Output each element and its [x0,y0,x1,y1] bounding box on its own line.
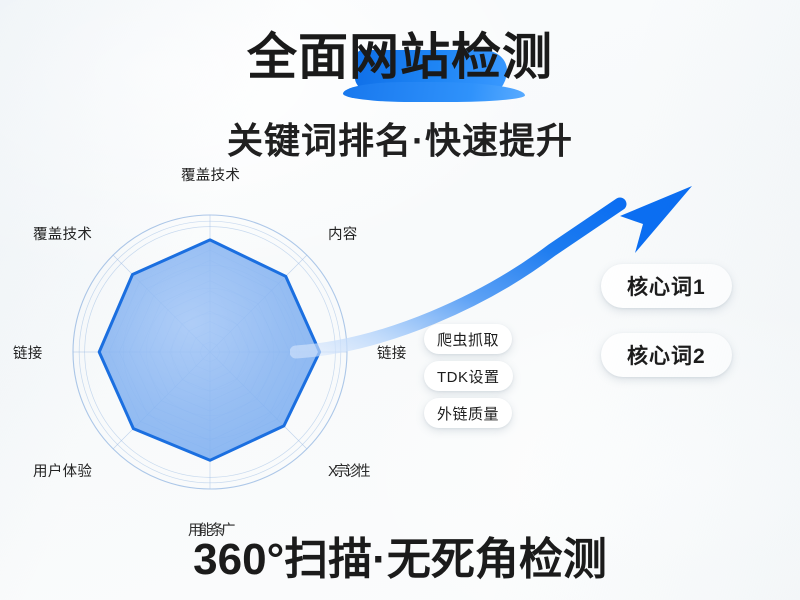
radar-chart: 覆盖技术 内容 链接 X宗诊性 用能条广 用户体验 链接 覆盖技术 [35,195,395,510]
subhead-container: 关键词排名·快速提升 [0,112,800,164]
headline-container: 全面网站检测 [0,30,800,84]
radar-label-left: 链接 [13,342,43,363]
radar-label-top-left: 覆盖技术 [33,223,92,244]
page-footline: 360°扫描·无死角检测 [193,523,607,587]
radar-label-bottom-left: 用户体验 [33,460,92,481]
radar-label-top-right: 内容 [328,223,358,244]
radar-data-polygon [99,240,319,460]
radar-label-top: 覆盖技术 [181,164,240,185]
radar-label-bottom-right: X宗诊性 [328,460,367,481]
title-part-2: 检测 [451,29,553,85]
keyword-pill-1[interactable]: 核心词1 [601,264,732,308]
feature-pill-crawl[interactable]: 爬虫抓取 [424,324,512,354]
feature-pill-tdk[interactable]: TDK设置 [424,361,513,391]
page-title: 全面网站检测 [247,30,553,84]
arrow-head [620,186,692,253]
footline-container: 360°扫描·无死角检测 [0,523,800,587]
title-highlight-tail [343,82,525,102]
keyword-pill-2[interactable]: 核心词2 [601,333,732,377]
poster-canvas: 全面网站检测 关键词排名·快速提升 覆盖技术 内容 链接 X宗诊性 用能条广 用… [0,0,800,600]
radar-label-right: 链接 [377,342,407,363]
page-subtitle: 关键词排名·快速提升 [227,112,573,164]
title-part-1: 全面 [247,29,349,85]
title-highlight-text: 网站 [349,29,451,85]
feature-pill-extlink[interactable]: 外链质量 [424,398,512,428]
